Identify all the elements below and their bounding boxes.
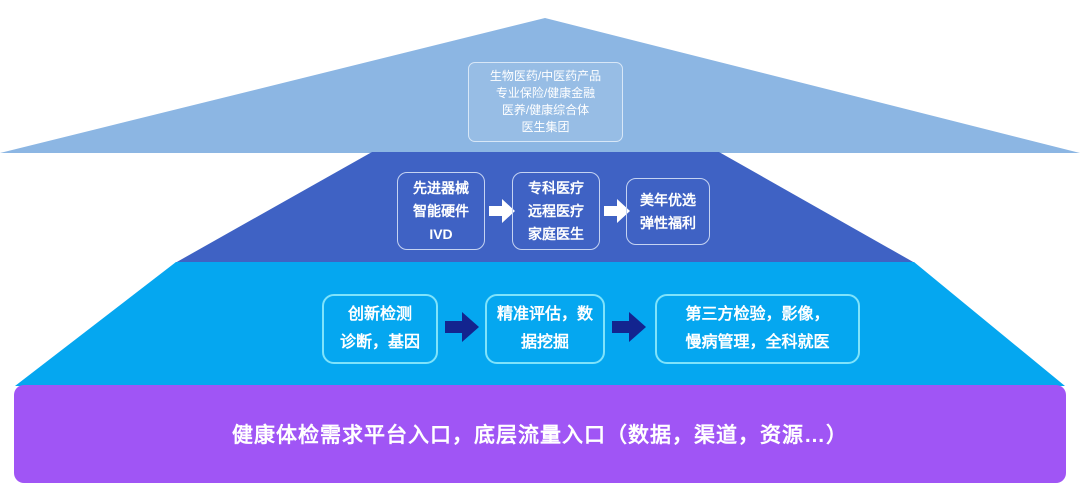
tier-1-box-line-4: 医生集团	[521, 119, 569, 136]
arrow-right-icon	[445, 312, 479, 342]
tier-2-box-2-line-3: 家庭医生	[528, 223, 584, 246]
tier-2-box-1-line-1: 先进器械	[413, 177, 469, 200]
tier-1-box-line-3: 医养/健康综合体	[502, 102, 589, 119]
tier-2-box-3[interactable]: 美年优选 弹性福利	[626, 178, 710, 245]
tier-1-box-line-2: 专业保险/健康金融	[496, 85, 595, 102]
tier-3-box-3[interactable]: 第三方检验，影像， 慢病管理，全科就医	[655, 294, 860, 364]
tier-3-box-2-line-1: 精准评估，数	[497, 301, 593, 329]
tier-2-box-1[interactable]: 先进器械 智能硬件 IVD	[397, 172, 485, 250]
tier-1-box-line-1: 生物医药/中医药产品	[490, 68, 601, 85]
tier-3-box-1[interactable]: 创新检测 诊断，基因	[322, 294, 438, 364]
tier-2-box-1-line-2: 智能硬件	[413, 200, 469, 223]
tier-2-box-2[interactable]: 专科医疗 远程医疗 家庭医生	[512, 172, 600, 250]
tier-2-box-2-line-2: 远程医疗	[528, 200, 584, 223]
tier-3-box-2-line-2: 据挖掘	[521, 329, 569, 357]
tier-3-box-1-line-1: 创新检测	[348, 301, 412, 329]
tier-2-box-2-line-1: 专科医疗	[528, 177, 584, 200]
base-platform-bar[interactable]: 健康体检需求平台入口，底层流量入口（数据，渠道，资源…）	[14, 385, 1066, 483]
base-platform-label: 健康体检需求平台入口，底层流量入口（数据，渠道，资源…）	[232, 419, 848, 449]
tier-2-box-1-line-3: IVD	[429, 223, 452, 246]
tier-2-box-3-line-2: 弹性福利	[640, 212, 696, 235]
tier-2-box-3-line-1: 美年优选	[640, 189, 696, 212]
pyramid-diagram: 生物医药/中医药产品 专业保险/健康金融 医养/健康综合体 医生集团 先进器械 …	[0, 0, 1080, 488]
tier-1-box[interactable]: 生物医药/中医药产品 专业保险/健康金融 医养/健康综合体 医生集团	[468, 62, 623, 142]
tier-3-box-3-line-2: 慢病管理，全科就医	[685, 329, 829, 357]
tier-3-box-3-line-1: 第三方检验，影像，	[685, 301, 829, 329]
tier-3-box-1-line-2: 诊断，基因	[340, 329, 420, 357]
tier-3-box-2[interactable]: 精准评估，数 据挖掘	[485, 294, 605, 364]
arrow-right-icon	[612, 312, 646, 342]
